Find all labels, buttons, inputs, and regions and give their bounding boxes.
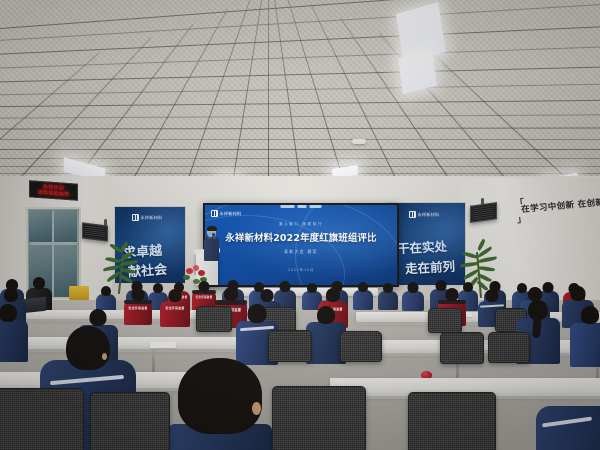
office-chair bbox=[488, 332, 530, 363]
screen-subtitle-top: 凝心聚力 砥砺前行 bbox=[205, 222, 397, 227]
plant-leaf bbox=[478, 256, 497, 263]
attendee-torso bbox=[570, 323, 600, 367]
attendee-torso bbox=[378, 291, 398, 310]
attendee-head bbox=[0, 304, 17, 322]
attendee-head bbox=[248, 304, 267, 323]
attendee-head bbox=[280, 281, 291, 292]
screen-top-chip-group bbox=[281, 205, 322, 208]
plant-leaf bbox=[478, 265, 495, 272]
attendee-head bbox=[261, 289, 274, 302]
plant-leaf bbox=[120, 267, 136, 275]
attendee-head bbox=[66, 326, 110, 370]
company-logo-icon bbox=[211, 210, 218, 217]
attendee bbox=[353, 282, 373, 310]
company-logo-icon bbox=[409, 211, 416, 218]
left-banner-logo: 永祥新材料 bbox=[132, 214, 162, 221]
attendee-torso bbox=[353, 290, 373, 310]
ceiling-grid-line bbox=[0, 149, 600, 150]
plant-leaf bbox=[460, 262, 478, 267]
attendee bbox=[402, 282, 424, 311]
attendee bbox=[378, 283, 398, 310]
table-leg bbox=[152, 349, 155, 373]
uniform-back-text: 安全环保监督 bbox=[196, 295, 213, 299]
attendee-head bbox=[326, 288, 340, 302]
conference-room-photo: 热烈欢迎 领导莅临指导 「 在学习中创新 在创新中 」 永祥新材料 求卓越 献社… bbox=[0, 0, 600, 450]
attendee-head bbox=[581, 306, 599, 324]
screen-brand-logo: 永祥新材料 bbox=[211, 210, 241, 217]
office-chair bbox=[428, 308, 462, 333]
attendee-head bbox=[528, 287, 542, 301]
attendee-head bbox=[4, 288, 18, 302]
quote-bracket-close: 」 bbox=[516, 212, 526, 226]
attendee-head bbox=[307, 283, 317, 293]
attendee-head bbox=[358, 282, 368, 292]
screen-main-title: 永祥新材料2022年度红旗班组评比 bbox=[205, 230, 397, 244]
plant-leaf bbox=[109, 243, 121, 253]
attendee-head bbox=[486, 289, 499, 302]
attendee-head bbox=[383, 283, 393, 293]
attendee-head bbox=[33, 277, 45, 289]
attendee-head bbox=[317, 306, 335, 324]
smoke-detector-icon bbox=[352, 139, 366, 144]
screen-date-line: 2022年10月 bbox=[205, 267, 397, 272]
right-banner-logo: 永祥新材料 bbox=[409, 211, 439, 218]
paper-sheet bbox=[150, 342, 176, 348]
attendee bbox=[570, 306, 600, 364]
attendee-head bbox=[199, 281, 210, 292]
screen-decor-wave bbox=[295, 205, 397, 285]
attendee-red-uniform: 安全环保监督 bbox=[124, 288, 152, 323]
office-chair-foreground bbox=[408, 392, 496, 450]
attendee-head bbox=[169, 289, 182, 302]
attendee-head bbox=[132, 288, 145, 301]
window-pane bbox=[54, 210, 77, 242]
screen-top-chip bbox=[310, 205, 322, 208]
foliage bbox=[183, 275, 190, 280]
attendee bbox=[0, 304, 28, 360]
attendee-torso bbox=[0, 320, 28, 362]
attendee-torso bbox=[160, 301, 190, 327]
attendee-torso bbox=[536, 406, 600, 450]
attendee-head bbox=[571, 286, 586, 301]
ceiling-texture bbox=[0, 0, 600, 182]
office-chair bbox=[268, 330, 312, 362]
plant-leaf bbox=[105, 256, 121, 264]
plant-leaf bbox=[103, 265, 120, 271]
uniform-back-text: 安全环保监督 bbox=[128, 306, 147, 310]
office-chair bbox=[440, 332, 484, 364]
company-logo-icon bbox=[132, 214, 139, 221]
foreground-attendee-center bbox=[168, 358, 272, 450]
screen-top-chip bbox=[281, 205, 295, 208]
ceiling-grid-line bbox=[0, 139, 600, 140]
led-sign-line2: 领导莅临指导 bbox=[38, 189, 70, 197]
projection-screen-frame: 永祥新材料 凝心聚力 砥砺前行 永祥新材料2022年度红旗班组评比 表彰大会 颁… bbox=[203, 203, 399, 287]
right-banner-line2: 走在前列 bbox=[405, 256, 456, 278]
window-pane bbox=[29, 210, 52, 242]
yellow-equipment-box bbox=[69, 286, 89, 300]
right-banner-line1: 干在实处 bbox=[397, 236, 448, 258]
ceiling-rail bbox=[268, 0, 269, 182]
ear bbox=[102, 353, 107, 360]
attendee-torso bbox=[402, 291, 424, 311]
attendee-head bbox=[408, 282, 419, 293]
right-banner-logo-text: 永祥新材料 bbox=[418, 212, 440, 218]
attendee-head bbox=[90, 309, 107, 326]
attendee-head bbox=[101, 286, 111, 296]
attendee-head bbox=[224, 287, 238, 301]
office-chair-foreground bbox=[0, 388, 84, 450]
ceiling bbox=[0, 0, 600, 182]
office-chair bbox=[340, 331, 382, 362]
attendee-head bbox=[446, 288, 459, 301]
left-banner-logo-text: 永祥新材料 bbox=[141, 215, 163, 221]
office-chair-foreground bbox=[90, 392, 170, 450]
ear bbox=[252, 402, 261, 415]
flower bbox=[198, 270, 205, 276]
presenter-hair bbox=[207, 226, 217, 231]
foreground-attendee-right bbox=[536, 398, 600, 450]
screen-logo-text: 永祥新材料 bbox=[220, 211, 242, 217]
attendee-red-uniform: 安全环保监督 bbox=[160, 289, 190, 325]
office-chair-foreground bbox=[272, 386, 366, 450]
led-scrolling-sign: 热烈欢迎 领导莅临指导 bbox=[29, 180, 78, 200]
screen-top-chip bbox=[298, 205, 307, 208]
screen-subtitle-bottom: 表彰大会 颁奖 bbox=[205, 249, 397, 255]
projection-screen: 永祥新材料 凝心聚力 砥砺前行 永祥新材料2022年度红旗班组评比 表彰大会 颁… bbox=[205, 205, 397, 285]
uniform-back-text: 安全环保监督 bbox=[165, 306, 184, 310]
attendee-head bbox=[178, 358, 262, 434]
speaker-grill-icon bbox=[473, 206, 494, 220]
office-chair bbox=[196, 306, 232, 332]
